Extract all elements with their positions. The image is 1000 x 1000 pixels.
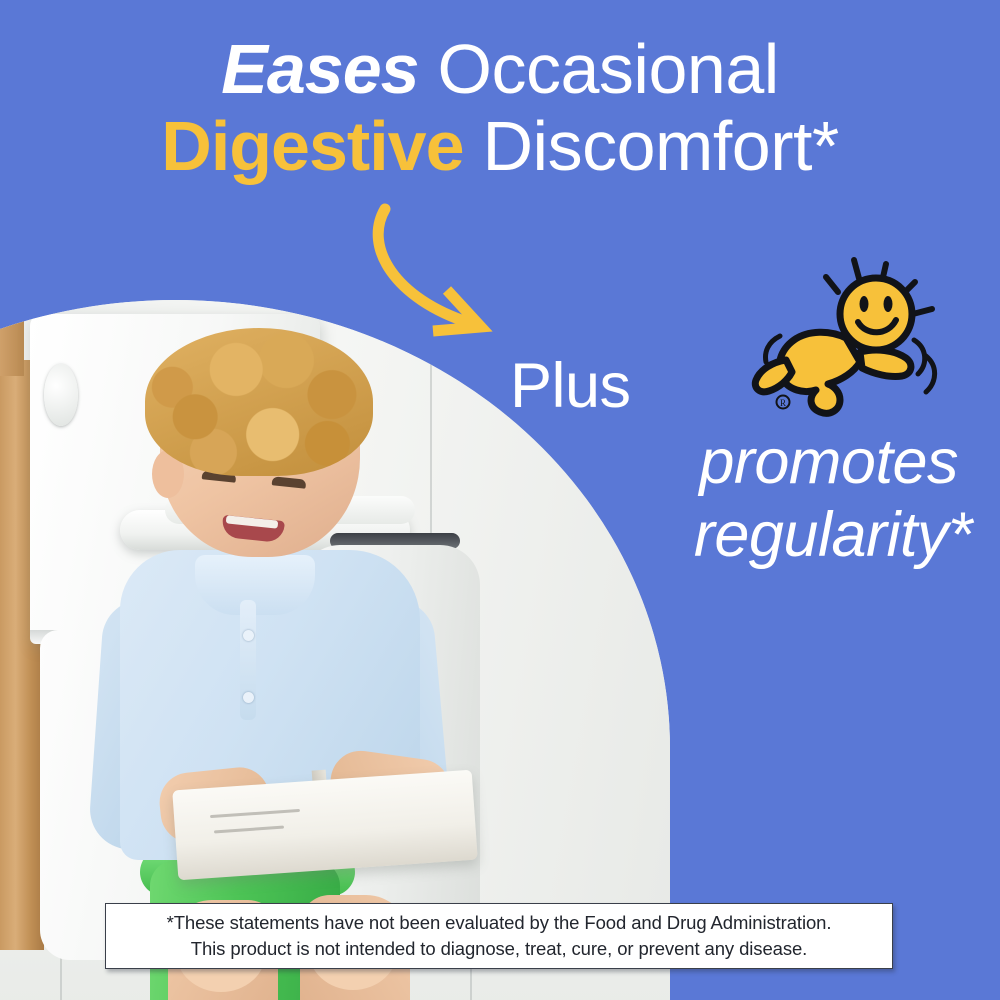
shirt-button <box>243 630 254 641</box>
wooden-trim <box>0 306 24 376</box>
headline-line-2: Digestive Discomfort* <box>0 113 1000 180</box>
headline-word-discomfort: Discomfort* <box>464 107 839 185</box>
claim-plus: Plus <box>470 355 980 418</box>
claim-regularity: regularity* <box>470 499 980 572</box>
disclaimer-line-1: *These statements have not been evaluate… <box>167 910 832 936</box>
headline-word-occasional: Occasional <box>419 30 779 108</box>
headline: Eases Occasional Digestive Discomfort* <box>0 36 1000 179</box>
headline-word-eases: Eases <box>221 30 418 108</box>
fda-disclaimer-box: *These statements have not been evaluate… <box>105 903 893 969</box>
secondary-claim: Plus promotes regularity* <box>470 355 980 572</box>
claim-promotes: promotes <box>470 426 980 499</box>
curved-down-right-arrow-icon <box>355 195 545 350</box>
toilet-flush-button <box>44 364 78 426</box>
headline-line-1: Eases Occasional <box>0 36 1000 103</box>
product-marketing-banner: Eases Occasional Digestive Discomfort* <box>0 0 1000 1000</box>
child-curly-hair <box>145 328 373 476</box>
disclaimer-line-2: This product is not intended to diagnose… <box>191 936 807 962</box>
shirt-button <box>243 692 254 703</box>
headline-word-digestive: Digestive <box>161 107 463 185</box>
